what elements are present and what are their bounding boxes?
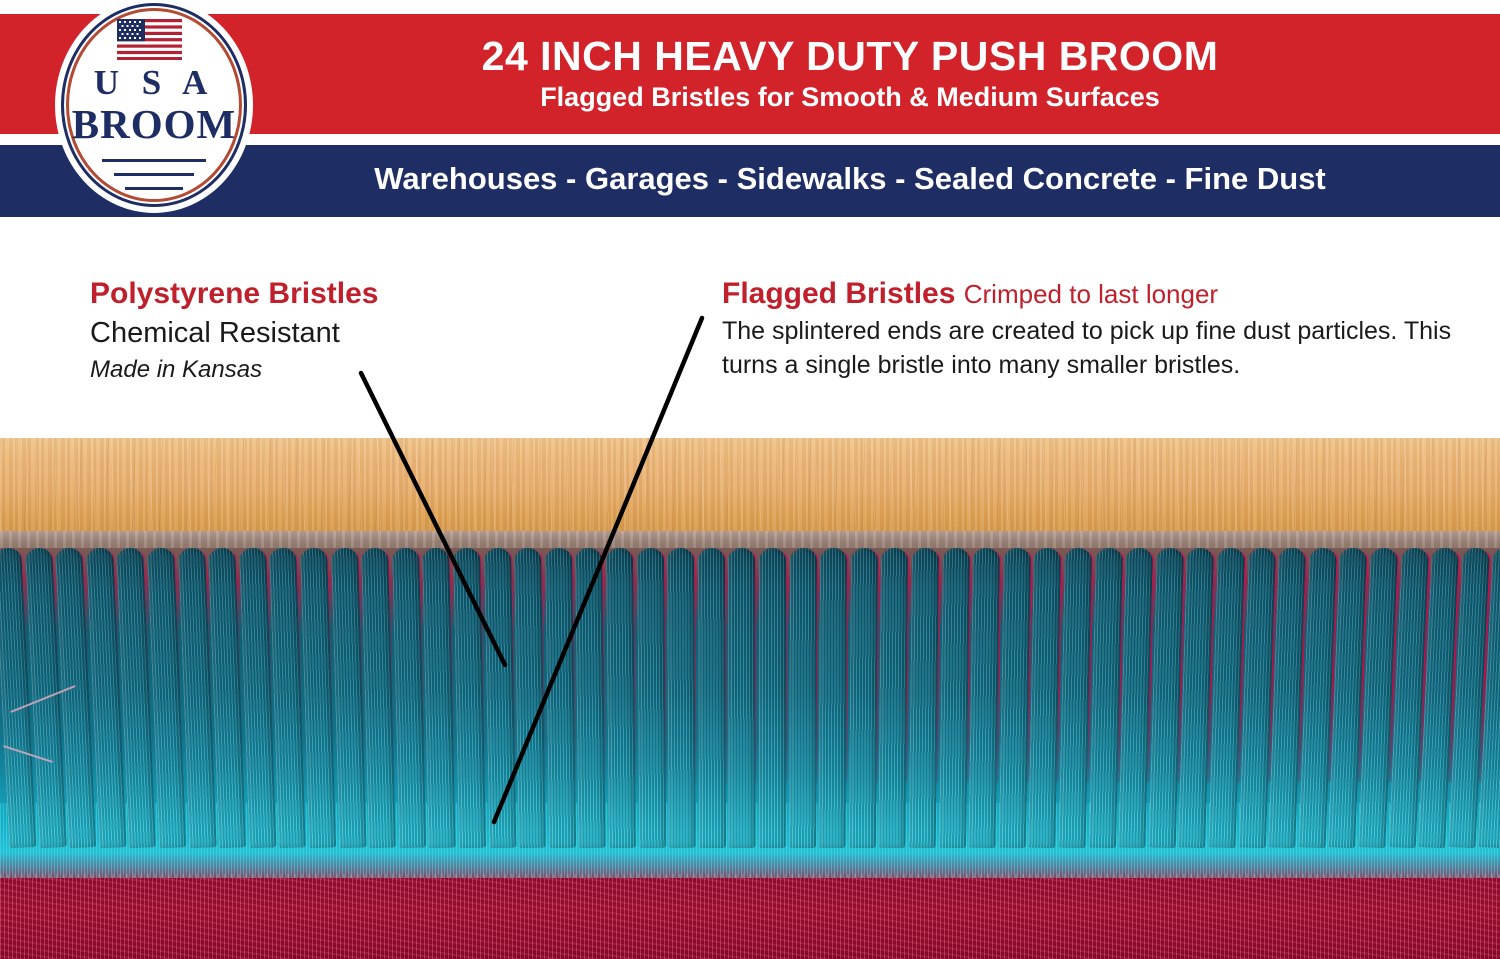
page-subtitle: Flagged Bristles for Smooth & Medium Sur… — [265, 84, 1435, 111]
callout-right-title-row: Flagged Bristles Crimped to last longer — [722, 275, 1452, 313]
bristle-tuft — [939, 548, 970, 848]
bristle-tuft — [575, 548, 606, 848]
product-infographic: 24 INCH HEAVY DUTY PUSH BROOM Flagged Br… — [0, 0, 1500, 959]
bristle-tuft — [545, 548, 576, 848]
bristle-tuft — [849, 548, 878, 848]
wood-grain-texture — [0, 438, 1500, 531]
bristle-tuft — [667, 548, 696, 848]
callout-left-origin: Made in Kansas — [90, 354, 510, 385]
brand-logo: U S A BROOM — [55, 0, 253, 213]
bristle-tuft — [484, 548, 516, 848]
bristle-tuft — [909, 548, 939, 848]
logo-rule-2 — [114, 173, 194, 176]
bristle-tuft — [969, 548, 1001, 848]
bristle-tuft — [422, 548, 456, 848]
use-cases-text: Warehouses - Garages - Sidewalks - Seale… — [265, 163, 1435, 194]
logo-rule-3 — [125, 187, 183, 190]
bristle-tuft — [637, 548, 666, 848]
callout-right-title: Flagged Bristles — [722, 277, 955, 310]
bristle-tuft — [728, 548, 755, 848]
bristle-tuft — [819, 548, 847, 848]
bristle-tuft — [514, 548, 546, 848]
callout-left-title: Polystyrene Bristles — [90, 275, 510, 313]
callout-left-subtitle: Chemical Resistant — [90, 315, 510, 353]
logo-rule-1 — [102, 159, 206, 162]
callout-polystyrene: Polystyrene Bristles Chemical Resistant … — [90, 275, 510, 385]
product-photo — [0, 438, 1500, 959]
bristle-tuft — [999, 548, 1031, 848]
logo-text-broom: BROOM — [55, 100, 253, 148]
page-title: 24 INCH HEAVY DUTY PUSH BROOM — [265, 36, 1435, 77]
callout-right-body: The splintered ends are created to pick … — [722, 314, 1452, 382]
callout-flagged: Flagged Bristles Crimped to last longer … — [722, 275, 1452, 382]
callout-right-title-light: Crimped to last longer — [964, 279, 1218, 309]
bristle-tuft — [879, 548, 909, 848]
us-flag-icon — [117, 19, 182, 60]
red-bristle-mass — [0, 878, 1500, 959]
bristle-tuft — [606, 548, 636, 848]
bristle-tuft — [789, 548, 817, 848]
teal-polystyrene-bristles — [0, 548, 1500, 959]
bristle-tuft — [698, 548, 726, 848]
bristle-tuft — [759, 548, 786, 848]
logo-text-usa: U S A — [55, 63, 253, 103]
